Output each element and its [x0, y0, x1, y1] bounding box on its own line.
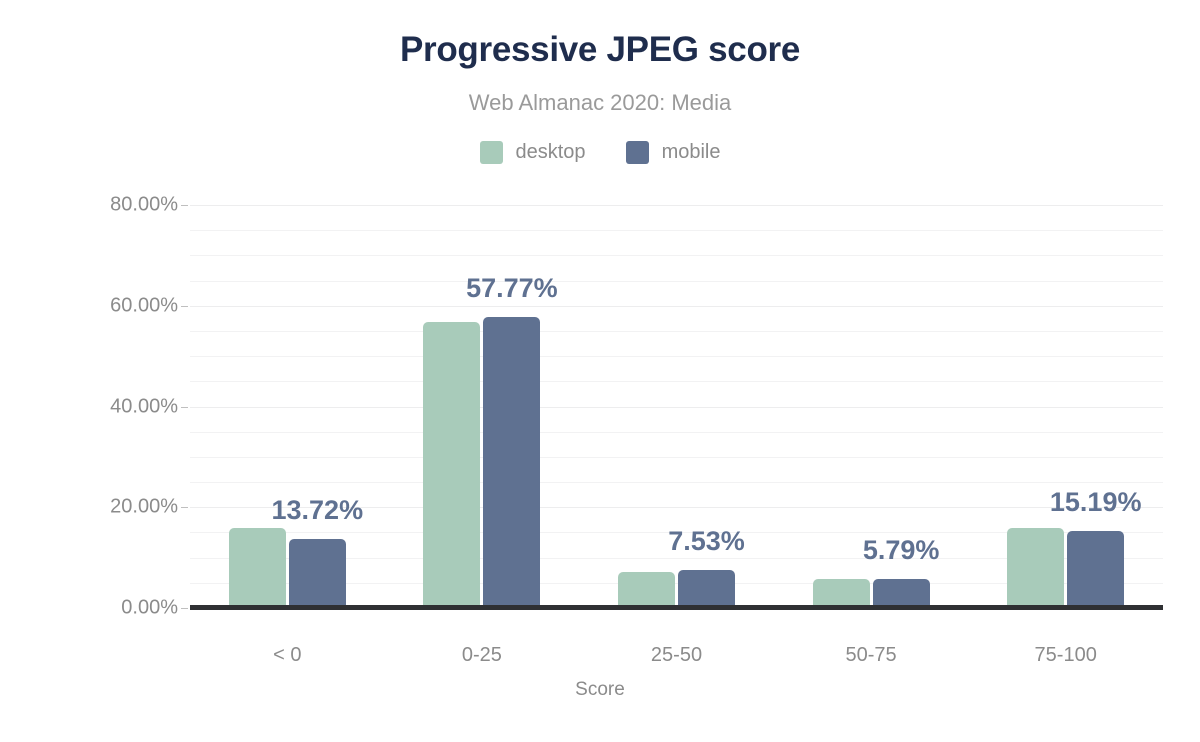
y-axis-tick-mark	[181, 507, 188, 508]
y-axis-tick-mark	[181, 407, 188, 408]
bar-mobile[interactable]	[289, 539, 346, 608]
legend-item-desktop[interactable]: desktop	[480, 141, 586, 164]
legend-item-mobile[interactable]: mobile	[626, 141, 721, 164]
x-axis-title: Score	[0, 679, 1200, 701]
y-axis-tick-mark	[181, 306, 188, 307]
chart-container: Progressive JPEG score Web Almanac 2020:…	[0, 0, 1200, 742]
bar-desktop[interactable]	[813, 579, 870, 608]
chart-subtitle: Web Almanac 2020: Media	[0, 90, 1200, 116]
bar-data-label: 5.79%	[863, 535, 940, 566]
y-axis-tick-label: 20.00%	[18, 496, 178, 519]
bar-data-label: 13.72%	[272, 495, 364, 526]
legend-label-desktop: desktop	[516, 141, 586, 164]
bar-mobile[interactable]	[678, 570, 735, 608]
y-axis-tick-label: 80.00%	[18, 194, 178, 217]
chart-legend: desktop mobile	[0, 141, 1200, 164]
bar-mobile[interactable]	[483, 317, 540, 608]
legend-label-mobile: mobile	[662, 141, 721, 164]
x-axis-tick-label: 25-50	[651, 644, 702, 667]
bar-desktop[interactable]	[1007, 528, 1064, 608]
x-axis-tick-label: 0-25	[462, 644, 502, 667]
bar-data-label: 15.19%	[1050, 487, 1142, 518]
x-axis-line	[190, 605, 1163, 610]
bar-mobile[interactable]	[873, 579, 930, 608]
legend-swatch-desktop	[480, 141, 503, 164]
bar-desktop[interactable]	[229, 528, 286, 608]
bar-data-label: 7.53%	[668, 526, 745, 557]
y-axis-tick-label: 0.00%	[18, 597, 178, 620]
bar-desktop[interactable]	[618, 572, 675, 608]
bar-data-label: 57.77%	[466, 273, 558, 304]
chart-title: Progressive JPEG score	[0, 30, 1200, 70]
y-axis-tick-mark	[181, 608, 188, 609]
x-axis-tick-label: 75-100	[1035, 644, 1097, 667]
bar-mobile[interactable]	[1067, 531, 1124, 608]
y-axis-tick-label: 60.00%	[18, 294, 178, 317]
bar-desktop[interactable]	[423, 322, 480, 608]
x-axis-tick-label: 50-75	[846, 644, 897, 667]
y-axis-tick-mark	[181, 205, 188, 206]
legend-swatch-mobile	[626, 141, 649, 164]
y-axis-tick-label: 40.00%	[18, 395, 178, 418]
x-axis-tick-label: < 0	[273, 644, 301, 667]
